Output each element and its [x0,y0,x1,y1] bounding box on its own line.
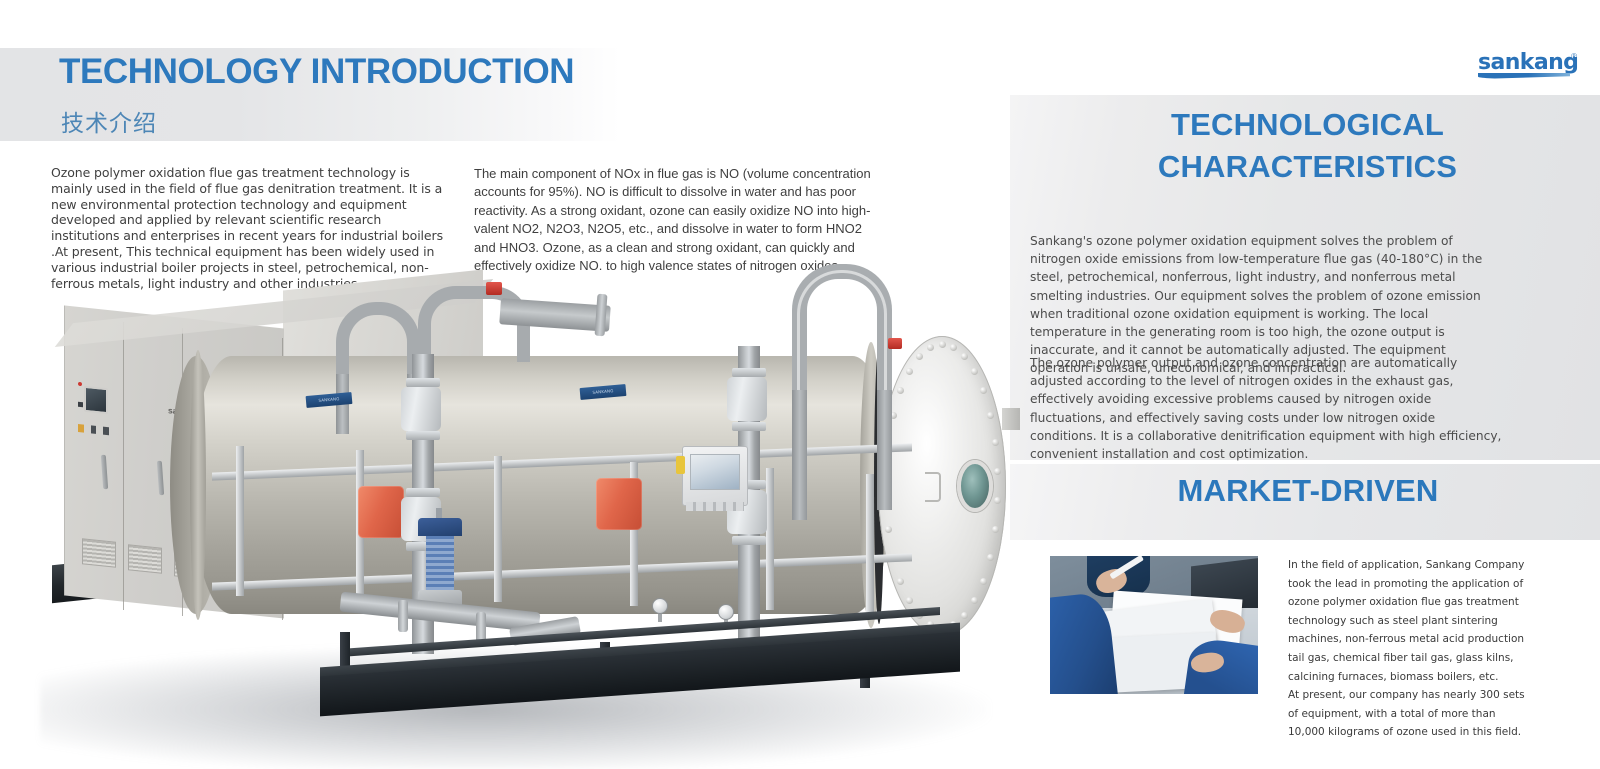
cabinet-hmi-touchscreen[interactable] [84,386,108,415]
red-valve-cap-icon [888,338,902,349]
page-title: TECHNOLOGY INTRODUCTION [59,52,574,92]
pressure-gauge [652,598,668,614]
characteristics-paragraph-2: The ozone polymer output and ozone conce… [1030,354,1505,463]
technological-characteristics-heading: TECHNOLOGICAL CHARACTERISTICS [1030,104,1585,188]
red-valve-cap-icon [486,282,502,295]
vessel-head-bolt [885,526,892,533]
cabinet-indicator-lamp-icon [78,382,82,386]
heading-line-1: TECHNOLOGICAL [1171,107,1444,142]
pipe-highlight [797,270,887,400]
junction-box-window [690,454,740,490]
logo-swoosh-icon [1478,73,1570,79]
pipe-flange [732,368,766,377]
vessel-head-bolt [961,612,968,619]
vessel-head-bolt [897,387,904,394]
market-driven-heading: MARKET-DRIVEN [1030,473,1586,509]
junction-box-isolator-icon[interactable] [676,456,685,474]
pipe-flange [732,422,766,431]
pipe-flange [398,600,408,632]
pneumatic-actuator-right[interactable] [596,478,642,530]
cabinet-vent-grille [82,538,116,568]
pneumatic-actuator-left[interactable] [358,486,404,538]
pipe-flange [406,378,440,387]
vessel-head-bolt [927,344,934,351]
frame-post [766,468,774,610]
frame-post [494,456,502,602]
vessel-head-bolt [971,597,978,604]
vessel-head-bolt [992,439,999,446]
vessel-head-bolt [992,526,999,533]
market-paragraph-2: At present, our company has nearly 300 s… [1288,686,1530,742]
skid-leg [340,632,350,668]
sankang-logo[interactable]: sankang ® [1478,52,1570,86]
logo-wordmark: sankang [1478,52,1578,74]
vessel-left-flange [190,350,206,620]
heading-line-2: CHARACTERISTICS [1030,146,1585,188]
pipe-flange [732,536,766,545]
junction-box-cable-glands [686,502,744,511]
vessel-head-bolt [961,353,968,360]
control-valve-spring [426,536,454,590]
machine-photo: sankang SANKANG [40,250,1020,769]
cabinet-vent-grille [128,544,162,574]
vessel-head-bolt [980,387,987,394]
pipe-flange [406,431,440,440]
vessel-head-bolt [906,368,913,375]
registered-trademark-icon: ® [1571,52,1577,61]
cabinet-button-icon[interactable] [78,402,83,408]
vessel-head-bolt [994,497,1001,504]
control-valve-head[interactable] [418,518,462,536]
pipe-arch-left [336,302,420,384]
vessel-head-bolt-ring [878,336,1006,636]
pressure-gauge [718,604,734,620]
frame-post [236,446,244,596]
vessel-head-bolt [897,578,904,585]
pipe-leg [877,390,892,510]
vessel-head-bolt [980,578,987,585]
pipe-flange [406,488,440,497]
manual-valve-left[interactable] [401,387,441,431]
market-driven-text: In the field of application, Sankang Com… [1288,556,1530,742]
vessel-head-bolt [971,368,978,375]
page-subtitle-chinese: 技术介绍 [61,104,157,138]
vessel-head-bolt [916,353,923,360]
pipe-leg [792,390,807,520]
market-paragraph-1: In the field of application, Sankang Com… [1288,556,1530,686]
vessel-head-bolt [950,344,957,351]
manual-valve-right[interactable] [727,377,767,421]
frame-post [866,474,874,614]
vessel-head-bolt [939,341,946,348]
vessel-head-bolt [906,597,913,604]
vessel-head-bolt [994,468,1001,475]
vessel-head-bolt [987,412,994,419]
vessel-head-bolt [987,554,994,561]
market-photo [1050,556,1258,694]
cabinet-door-seam [123,322,124,610]
